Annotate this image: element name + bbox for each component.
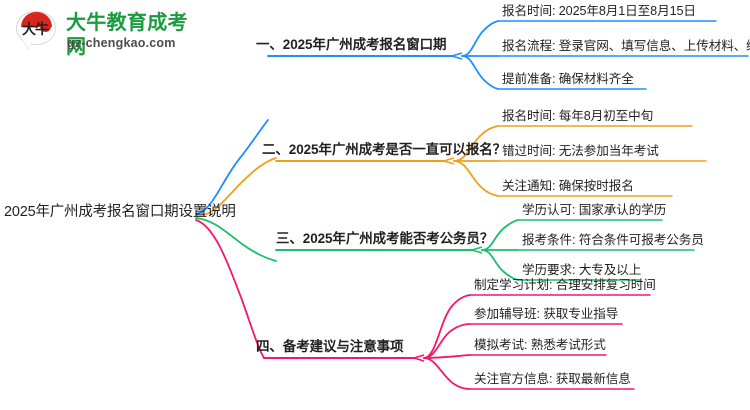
edge-branch-1-arrow: [452, 53, 462, 59]
leaf-node-b3-2[interactable]: 报考条件: 符合条件可报考公务员: [522, 234, 704, 247]
leaf-node-b3-1[interactable]: 学历认可: 国家承认的学历: [522, 204, 666, 217]
leaf-node-b4-3[interactable]: 模拟考试: 熟悉考试形式: [474, 339, 606, 352]
edge-root-branch-4: [196, 220, 264, 358]
edge-root-branch-3: [196, 218, 276, 261]
leaf-node-b4-2[interactable]: 参加辅导班: 获取专业指导: [474, 308, 618, 321]
leaf-node-b2-3[interactable]: 关注通知: 确保按时报名: [502, 180, 634, 193]
branch-node-1[interactable]: 一、2025年广州成考报名窗口期: [256, 38, 446, 52]
leaf-node-b2-2[interactable]: 错过时间: 无法参加当年考试: [502, 145, 659, 158]
branch-node-2[interactable]: 二、2025年广州成考是否一直可以报名？: [262, 143, 506, 157]
leaf-node-b4-4[interactable]: 关注官方信息: 获取最新信息: [474, 373, 631, 386]
leaf-node-b1-3[interactable]: 提前准备: 确保材料齐全: [502, 73, 634, 86]
logo-mark-icon: 大牛: [14, 10, 60, 52]
leaf-node-b4-1[interactable]: 制定学习计划: 合理安排复习时间: [474, 279, 656, 292]
edge-branch-1-leaf-3: [462, 56, 498, 89]
edge-branch-4-leaf-4: [424, 358, 470, 389]
edge-branch-4-arrow: [414, 355, 424, 361]
brand-title: 大牛教育成考网: [66, 11, 200, 59]
leaf-node-b1-1[interactable]: 报名时间: 2025年8月1日至8月15日: [502, 5, 696, 18]
edge-root-branch-1: [196, 120, 268, 214]
edge-branch-2-arrow: [444, 158, 454, 164]
leaf-node-b1-2[interactable]: 报名流程: 登录官网、填写信息、上传材料、缴费: [502, 40, 750, 53]
brand-url: gz-chengkao.com: [67, 36, 176, 50]
edge-branch-4-leaf-3: [424, 355, 470, 358]
edge-branch-4-leaf-2: [424, 324, 470, 358]
branch-node-4[interactable]: 四、备考建议与注意事项: [256, 340, 403, 354]
edge-branch-3-leaf-3: [482, 250, 518, 280]
edge-branch-3-arrow: [472, 247, 482, 253]
edge-branch-1-leaf-1: [462, 21, 498, 56]
branch-node-3[interactable]: 三、2025年广州成考能否考公务员？: [276, 232, 493, 246]
edge-branch-4-leaf-1: [424, 295, 470, 358]
logo-bubble-tail: [23, 41, 32, 49]
leaf-node-b2-1[interactable]: 报名时间: 每年8月初至中旬: [502, 110, 653, 123]
mindmap-root-node[interactable]: 2025年广州成考报名窗口期设置说明: [4, 205, 236, 220]
brand-logo: 大牛 大牛教育成考网 gz-chengkao.com: [14, 8, 200, 56]
logo-mark-text: 大牛: [18, 22, 52, 37]
mindmap-canvas: 大牛 大牛教育成考网 gz-chengkao.com: [0, 0, 750, 410]
edge-branch-2-leaf-3: [454, 161, 498, 196]
leaf-node-b3-3[interactable]: 学历要求: 大专及以上: [522, 264, 641, 277]
